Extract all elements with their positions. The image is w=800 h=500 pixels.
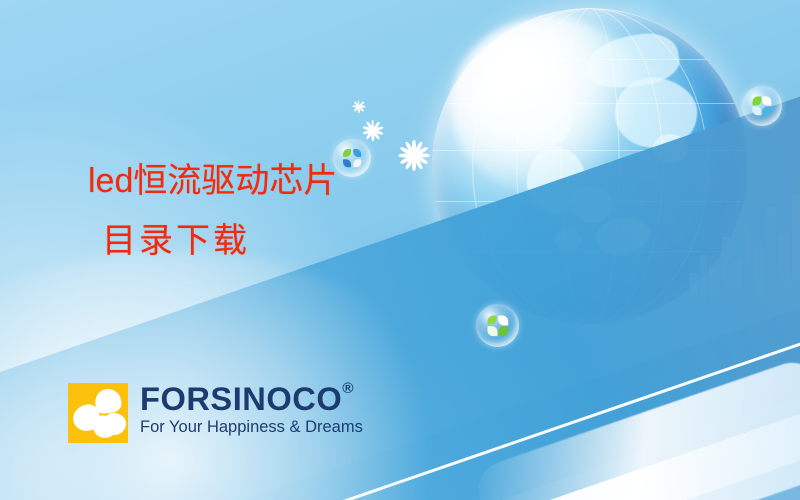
pinwheel-icon [753, 97, 772, 116]
four-petal-flower-mark-icon [68, 383, 128, 443]
headline-line-1: led恒流驱动芯片 [88, 164, 337, 198]
bubble-pinwheel-left [333, 139, 371, 177]
bubble-pinwheel-center [476, 304, 519, 347]
registered-trademark-icon: ® [342, 380, 354, 397]
city-skyline-silhouette [685, 190, 800, 325]
page-title: led恒流驱动芯片 目录下载 [88, 164, 337, 258]
pinwheel-icon [343, 149, 361, 167]
sparkle-tiny [352, 100, 365, 113]
swoosh-tail [470, 355, 800, 500]
logo-text-block: FORSINOCO® For Your Happiness & Dreams [140, 383, 363, 437]
promotional-banner: led恒流驱动芯片 目录下载 FORSINOCO® For Your Happi… [0, 0, 800, 500]
brand-name: FORSINOCO® [140, 383, 367, 415]
sparkle-small [362, 120, 383, 141]
brand-tagline: For Your Happiness & Dreams [140, 417, 363, 437]
pinwheel-icon [487, 315, 508, 336]
company-logo[interactable]: FORSINOCO® For Your Happiness & Dreams [68, 383, 363, 443]
headline-line-2: 目录下载 [102, 224, 337, 258]
brand-word: FORSINOCO [140, 381, 342, 417]
sparkle-large [398, 140, 429, 171]
bubble-pinwheel-right [742, 86, 782, 126]
bottom-left-glow [0, 250, 480, 500]
